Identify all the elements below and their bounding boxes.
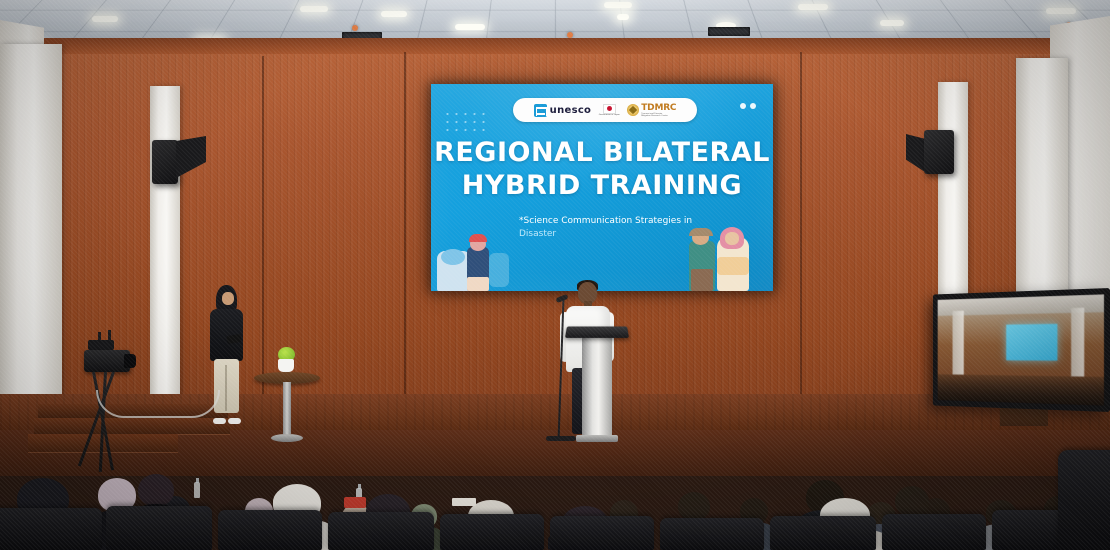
speaker-podium — [578, 326, 616, 442]
wall-top-trim — [0, 38, 1110, 54]
tdmrc-caption: Tsunami and Disaster Mitigation Research… — [641, 113, 671, 118]
auditorium-chair — [660, 518, 764, 550]
camera-lens-icon — [124, 354, 136, 368]
auditorium-chair — [0, 508, 102, 550]
shoe-right — [228, 418, 241, 424]
auditorium-chair — [440, 514, 544, 550]
attendee-head — [678, 492, 710, 520]
auditorium-chair — [882, 514, 986, 550]
projection-screen: unesco Government of Japan TDMRC Tsunami… — [431, 84, 773, 291]
feed-audience — [938, 374, 1105, 406]
unesco-logo: unesco — [534, 104, 592, 117]
wall-speaker-right — [906, 128, 968, 184]
auditorium-chair — [1058, 450, 1110, 550]
water-bottle — [194, 482, 200, 498]
unesco-temple-icon — [534, 104, 547, 117]
red-pouch — [344, 497, 366, 508]
feed-column — [1072, 308, 1085, 376]
auditorium-chair — [106, 506, 212, 550]
feed-projection-screen — [1007, 324, 1058, 361]
speaker-cabinet-icon — [924, 130, 954, 174]
cream-trousers — [214, 359, 239, 413]
ceiling-light — [1046, 8, 1076, 14]
feed-column — [953, 311, 964, 374]
wall-panel-seam — [404, 52, 406, 432]
two-dots-decoration — [740, 103, 756, 109]
podium-desktop — [565, 326, 629, 337]
japan-flag-icon — [603, 104, 616, 114]
ceiling-air-vent — [708, 27, 750, 36]
unesco-wordmark: unesco — [550, 105, 592, 116]
audience-area — [0, 430, 1110, 550]
face — [222, 292, 234, 305]
wall-pilaster-left-outer — [0, 44, 62, 444]
sprinkler-head-icon — [352, 25, 358, 31]
auditorium-chair — [328, 512, 434, 550]
conference-hall-photo: unesco Government of Japan TDMRC Tsunami… — [0, 0, 1110, 550]
slide-title-line-1: REGIONAL BILATERAL — [431, 137, 773, 170]
speaker-bracket — [176, 136, 206, 178]
ceiling-light — [92, 16, 118, 22]
attendee-head — [895, 486, 929, 516]
auditorium-chair — [770, 516, 876, 550]
auditorium-chair — [218, 510, 322, 550]
wall-mounted-display — [933, 288, 1110, 412]
ceiling-light — [798, 4, 828, 10]
floor-cable — [96, 390, 220, 418]
video-feed — [938, 294, 1105, 406]
japan-government-logo: Government of Japan — [598, 104, 620, 116]
potted-plant-pot — [278, 359, 294, 372]
tdmrc-seal-icon — [627, 104, 639, 116]
auditorium-chair — [550, 516, 654, 550]
tdmrc-logo: TDMRC Tsunami and Disaster Mitigation Re… — [627, 103, 676, 118]
ceiling-light — [455, 24, 485, 30]
speaker-cabinet-icon — [152, 140, 178, 184]
people-illustration-right — [689, 219, 769, 291]
table-stem — [283, 382, 291, 434]
dot-grid-decoration — [443, 110, 487, 136]
attendee-head — [138, 474, 174, 506]
ceiling-light — [300, 6, 328, 12]
ceiling-light — [604, 2, 632, 8]
ceiling-light — [381, 11, 407, 17]
ceiling-light — [617, 14, 629, 20]
podium-column — [582, 337, 612, 435]
camera-hood — [88, 340, 114, 350]
notebook — [452, 498, 476, 506]
slide-title-line-2: HYBRID TRAINING — [431, 170, 773, 203]
japan-caption: Government of Japan — [598, 114, 620, 116]
wall-panel-seam — [262, 56, 264, 426]
slide-logo-bar: unesco Government of Japan TDMRC Tsunami… — [513, 98, 697, 122]
shoe-left — [213, 418, 226, 424]
slide-title: REGIONAL BILATERAL HYBRID TRAINING — [431, 137, 773, 203]
wall-speaker-left — [152, 136, 214, 192]
tdmrc-wordmark: TDMRC — [641, 103, 676, 113]
people-illustration-left — [437, 229, 523, 291]
ceiling-light — [880, 20, 904, 26]
wall-panel-seam — [800, 52, 802, 432]
